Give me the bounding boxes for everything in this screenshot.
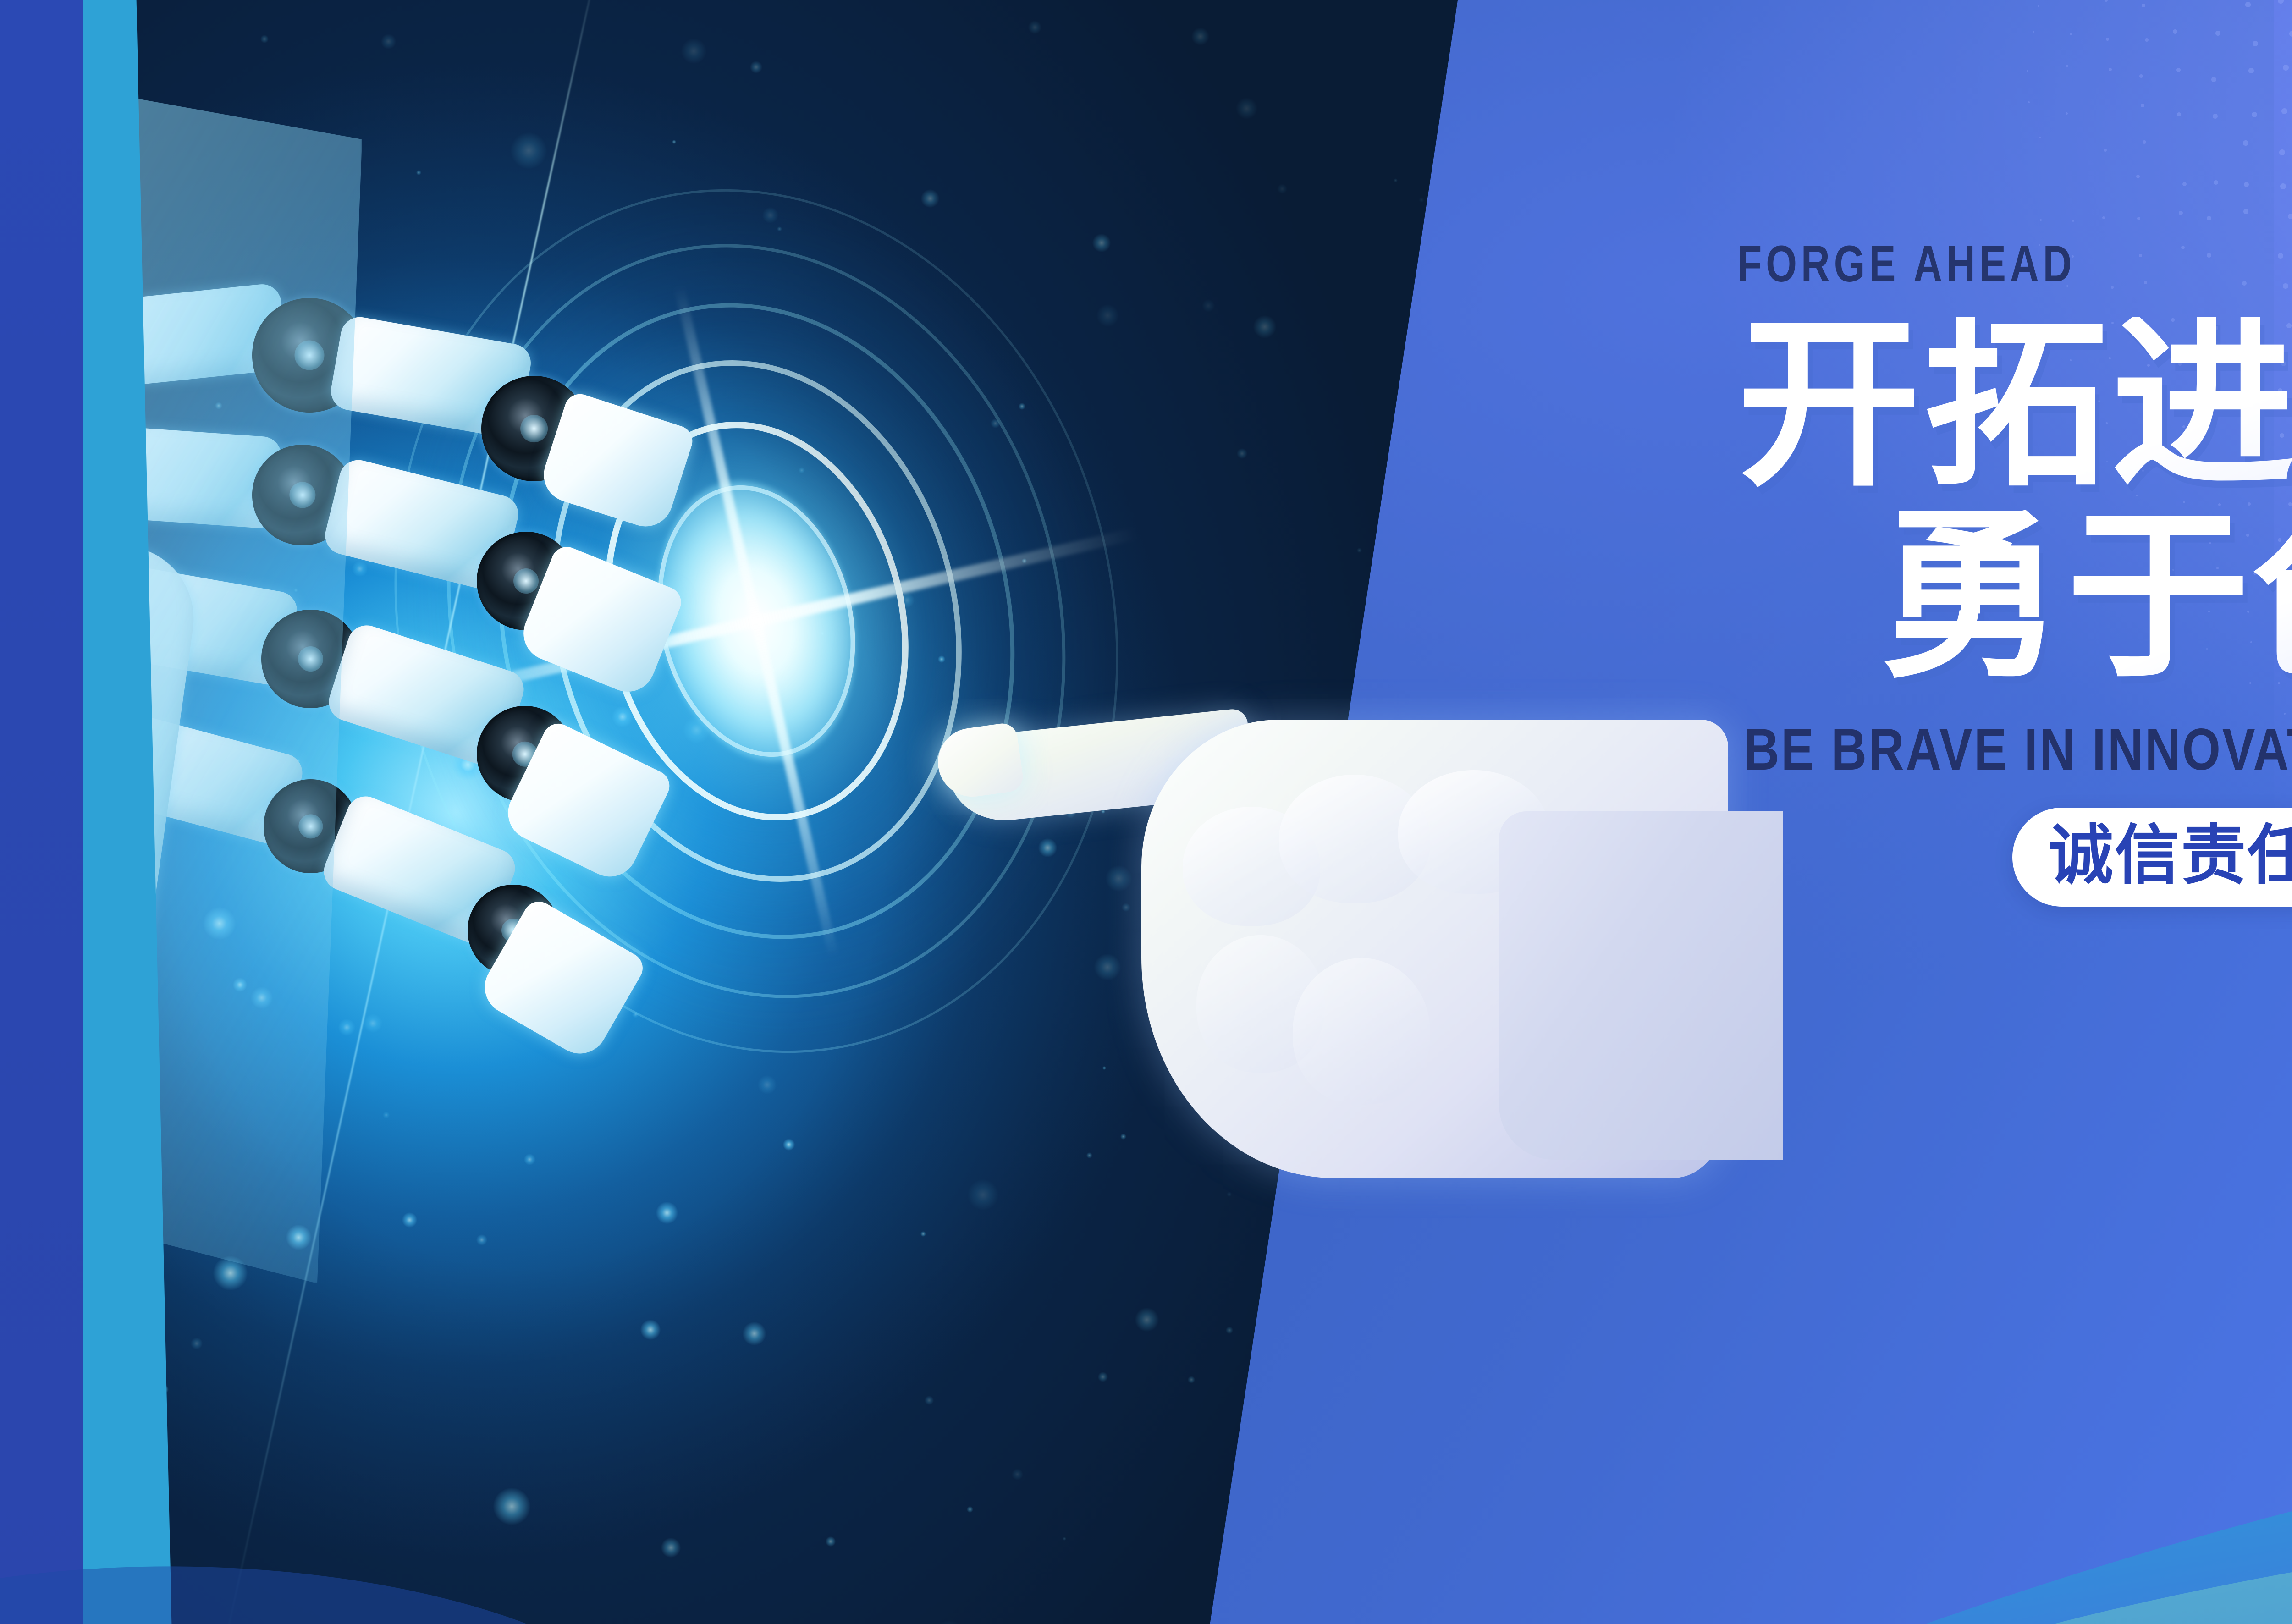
headline-line-2: 勇于创励 <box>1879 509 2292 685</box>
human-hand-illustration <box>949 674 1728 1361</box>
eyebrow-text: FORGE AHEAD <box>1737 238 2292 290</box>
headline-line-1: 开拓进取 <box>1737 317 2292 493</box>
subtitle-english: BE BRAVE IN INNOVATION <box>1744 721 2292 779</box>
banner-canvas: FORGE AHEAD 开拓进取 勇于创励 BE BRAVE IN INNOVA… <box>0 0 2292 1624</box>
tagline-pill-group: 诚信责任 服务至上 <box>2012 808 2292 907</box>
tagline-pill-label: 诚信责任 <box>2048 823 2292 888</box>
copy-block: FORGE AHEAD 开拓进取 勇于创励 BE BRAVE IN INNOVA… <box>1737 238 2292 907</box>
navy-edge-strip <box>0 0 83 1624</box>
tagline-pill-integrity[interactable]: 诚信责任 <box>2012 808 2292 907</box>
